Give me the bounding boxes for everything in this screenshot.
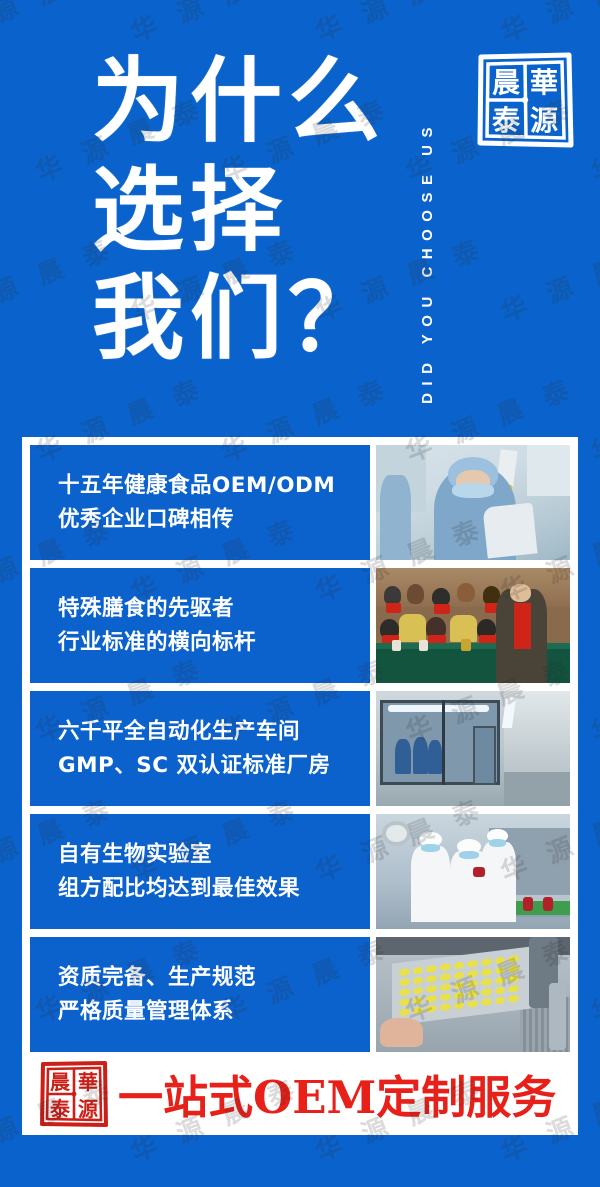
company-seal-red-icon: 華 源 晨 泰 xyxy=(38,1058,110,1130)
svg-text:源: 源 xyxy=(78,1097,98,1121)
feature-line-2: 行业标准的横向标杆 xyxy=(58,626,370,659)
feature-text-box: 自有生物实验室 组方配比均达到最佳效果 xyxy=(30,814,370,929)
feature-line-1: 自有生物实验室 xyxy=(58,838,370,871)
watermark-text: 华 源 晨 泰 xyxy=(495,228,600,330)
feature-row: 六千平全自动化生产车间 GMP、SC 双认证标准厂房 xyxy=(30,691,570,806)
svg-text:泰: 泰 xyxy=(49,1097,71,1121)
headline-line-3: 我们？ xyxy=(92,265,386,374)
watermark-text: 华 源 晨 泰 xyxy=(585,88,600,190)
bottom-banner: 華 源 晨 泰 一站式OEM定制服务 xyxy=(30,1052,570,1135)
feature-row: 特殊膳食的先驱者 行业标准的横向标杆 xyxy=(30,568,570,683)
svg-text:泰: 泰 xyxy=(492,104,521,137)
feature-text-box: 六千平全自动化生产车间 GMP、SC 双认证标准厂房 xyxy=(30,691,370,806)
feature-line-1: 资质完备、生产规范 xyxy=(58,961,370,994)
feature-row: 资质完备、生产规范 严格质量管理体系 xyxy=(30,937,570,1052)
watermark-text: 华 源 晨 泰 xyxy=(585,368,600,470)
watermark-text: 华 源 晨 泰 xyxy=(495,0,600,49)
svg-text:晨: 晨 xyxy=(50,1070,71,1094)
feature-line-2: GMP、SC 双认证标准厂房 xyxy=(58,749,370,782)
svg-text:華: 華 xyxy=(78,1070,98,1094)
headline-line-2: 选择 xyxy=(92,157,386,266)
watermark-text: 华 源 晨 泰 xyxy=(310,0,491,49)
feature-text-box: 特殊膳食的先驱者 行业标准的横向标杆 xyxy=(30,568,370,683)
watermark-text: 华 源 晨 泰 xyxy=(0,0,121,49)
page-title: 为什么 选择 我们？ xyxy=(92,48,386,374)
banner-slogan: 一站式OEM定制服务 xyxy=(118,1061,556,1126)
photo-blister-packing-machine xyxy=(376,937,570,1052)
svg-text:源: 源 xyxy=(530,104,558,137)
photo-lab-technician-blue-gown xyxy=(376,445,570,560)
feature-line-2: 严格质量管理体系 xyxy=(58,995,370,1028)
feature-line-1: 特殊膳食的先驱者 xyxy=(58,592,370,625)
feature-line-1: 十五年健康食品OEM/ODM xyxy=(58,469,370,502)
headline-line-1: 为什么 xyxy=(92,48,386,157)
svg-text:華: 華 xyxy=(530,66,558,99)
features-list: 十五年健康食品OEM/ODM 优秀企业口碑相传 特殊膳食的先驱者 行业标准的横向… xyxy=(30,445,570,1052)
vertical-english-subtitle: DID YOU CHOOSE US xyxy=(405,14,449,404)
company-seal-icon: 華 源 晨 泰 xyxy=(474,48,576,152)
features-card: 十五年健康食品OEM/ODM 优秀企业口碑相传 特殊膳食的先驱者 行业标准的横向… xyxy=(22,437,578,1135)
feature-text-box: 十五年健康食品OEM/ODM 优秀企业口碑相传 xyxy=(30,445,370,560)
photo-production-line-workers xyxy=(376,814,570,929)
watermark-text: 华 源 晨 泰 xyxy=(125,0,306,49)
feature-row: 自有生物实验室 组方配比均达到最佳效果 xyxy=(30,814,570,929)
vertical-english-text: DID YOU CHOOSE US xyxy=(419,120,436,404)
feature-line-2: 优秀企业口碑相传 xyxy=(58,503,370,536)
watermark-text: 华 源 晨 泰 xyxy=(585,928,600,1030)
svg-text:晨: 晨 xyxy=(492,66,521,99)
feature-line-2: 组方配比均达到最佳效果 xyxy=(58,872,370,905)
feature-row: 十五年健康食品OEM/ODM 优秀企业口碑相传 xyxy=(30,445,570,560)
feature-text-box: 资质完备、生产规范 严格质量管理体系 xyxy=(30,937,370,1052)
photo-cleanroom-corridor xyxy=(376,691,570,806)
photo-conference-audience xyxy=(376,568,570,683)
feature-line-1: 六千平全自动化生产车间 xyxy=(58,715,370,748)
watermark-text: 华 源 晨 泰 xyxy=(585,648,600,750)
